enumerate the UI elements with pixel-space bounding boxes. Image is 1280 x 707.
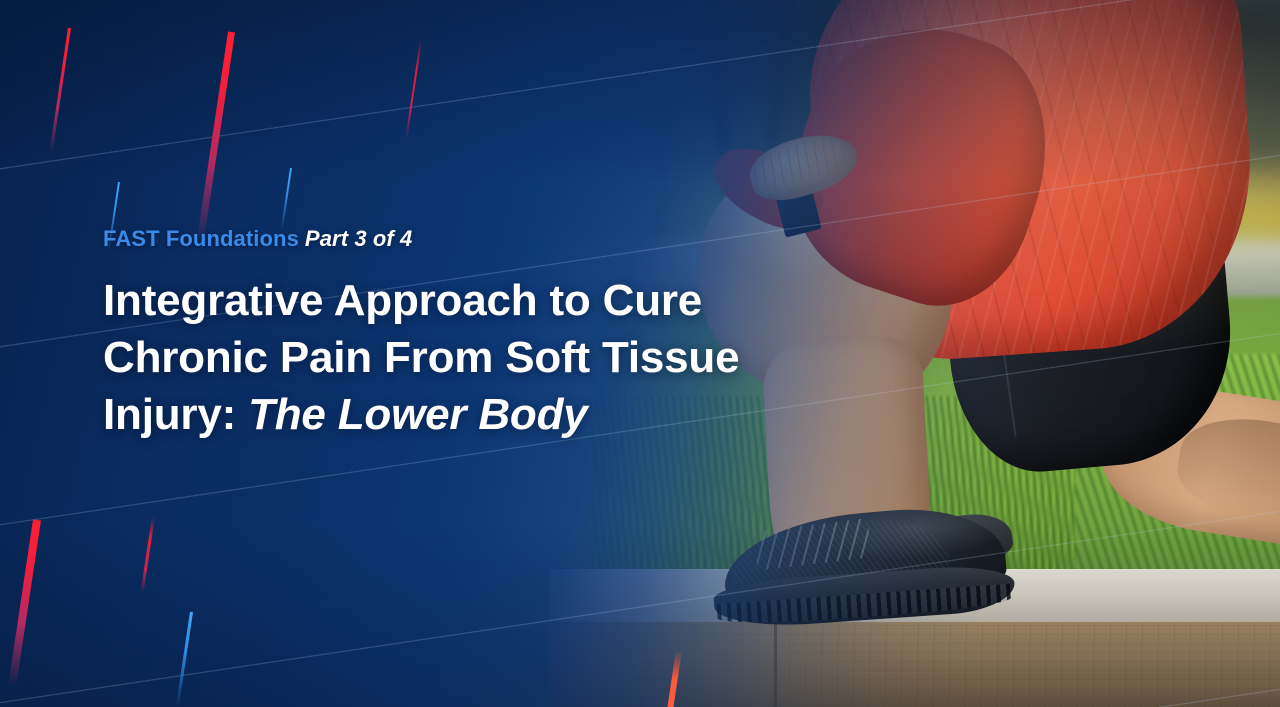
eyebrow: FAST FoundationsPart 3 of 4 — [103, 228, 893, 250]
course-hero-banner: FAST FoundationsPart 3 of 4 Integrative … — [0, 0, 1280, 707]
hero-text-block: FAST FoundationsPart 3 of 4 Integrative … — [103, 228, 893, 443]
page-title-emphasis: The Lower Body — [248, 390, 587, 439]
page-title: Integrative Approach to Cure Chronic Pai… — [103, 272, 863, 443]
eyebrow-part: Part 3 of 4 — [305, 226, 412, 251]
eyebrow-brand: FAST Foundations — [103, 226, 299, 251]
